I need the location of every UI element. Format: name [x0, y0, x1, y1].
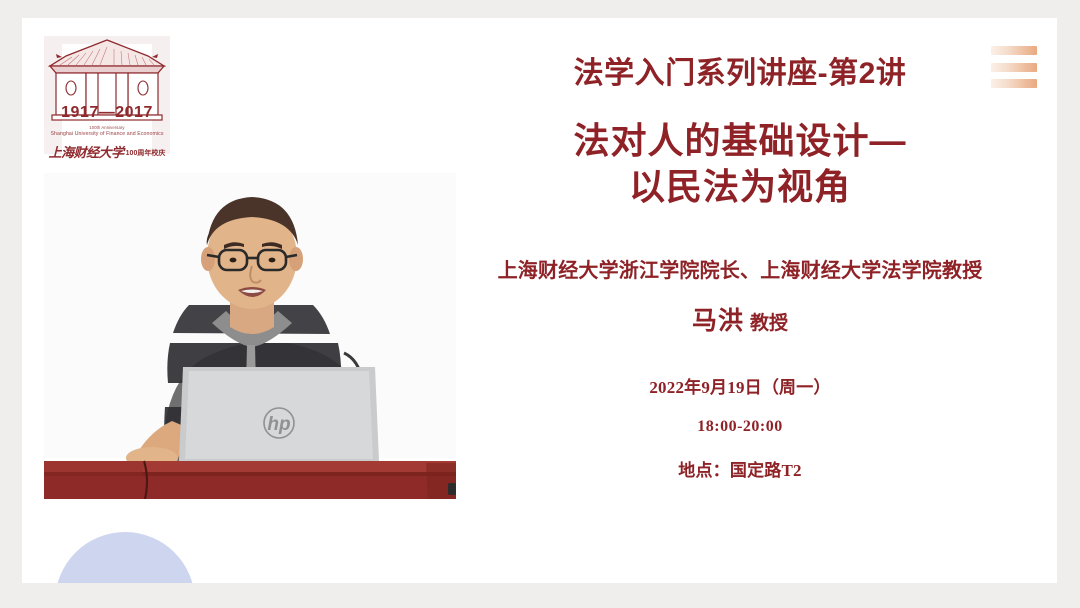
logo-chinese-row: 上海财经大学100周年校庆: [38, 142, 176, 162]
svg-text:hp: hp: [267, 414, 290, 435]
speaker-photo-image: hp: [44, 173, 456, 503]
menu-bar-middle: [991, 63, 1037, 72]
logo-anniversary-cn: 100周年校庆: [126, 150, 166, 157]
main-title: 法对人的基础设计— 以民法为视角: [442, 118, 1038, 210]
event-date: 2022年9月19日（周一）: [442, 373, 1038, 398]
event-venue: 地点：国定路T2: [442, 456, 1038, 481]
logo-years: 1917—2017: [38, 104, 176, 122]
main-title-line-2: 以民法为视角: [442, 164, 1038, 210]
speaker-affiliation: 上海财经大学浙江学院院长、上海财经大学法学院教授: [442, 254, 1038, 283]
menu-bar-bottom: [991, 79, 1037, 88]
university-logo: 1917—2017 100th Anniversary Shanghai Uni…: [38, 26, 176, 166]
poster-content: 法学入门系列讲座-第2讲 法对人的基础设计— 以民法为视角 上海财经大学浙江学院…: [442, 38, 1038, 481]
poster-card: 1917—2017 100th Anniversary Shanghai Uni…: [22, 18, 1057, 583]
decorative-circle: [55, 532, 195, 583]
event-time: 18:00-20:00: [442, 418, 1038, 436]
logo-university-en: Shanghai University of Finance and Econo…: [38, 131, 176, 137]
menu-bar-top: [991, 46, 1037, 55]
main-title-line-1: 法对人的基础设计—: [442, 118, 1038, 164]
hamburger-menu-icon[interactable]: [991, 46, 1037, 88]
series-title: 法学入门系列讲座-第2讲: [442, 56, 1038, 92]
speaker-name-row: 马洪教授: [442, 301, 1038, 337]
logo-university-cn: 上海财经大学: [49, 145, 124, 160]
speaker-rank: 教授: [750, 313, 788, 334]
poster-screenshot: 1917—2017 100th Anniversary Shanghai Uni…: [0, 0, 1080, 608]
speaker-name: 马洪: [692, 307, 744, 335]
logo-anniversary-en: 100th Anniversary: [38, 125, 176, 130]
speaker-photo: hp: [44, 173, 456, 503]
